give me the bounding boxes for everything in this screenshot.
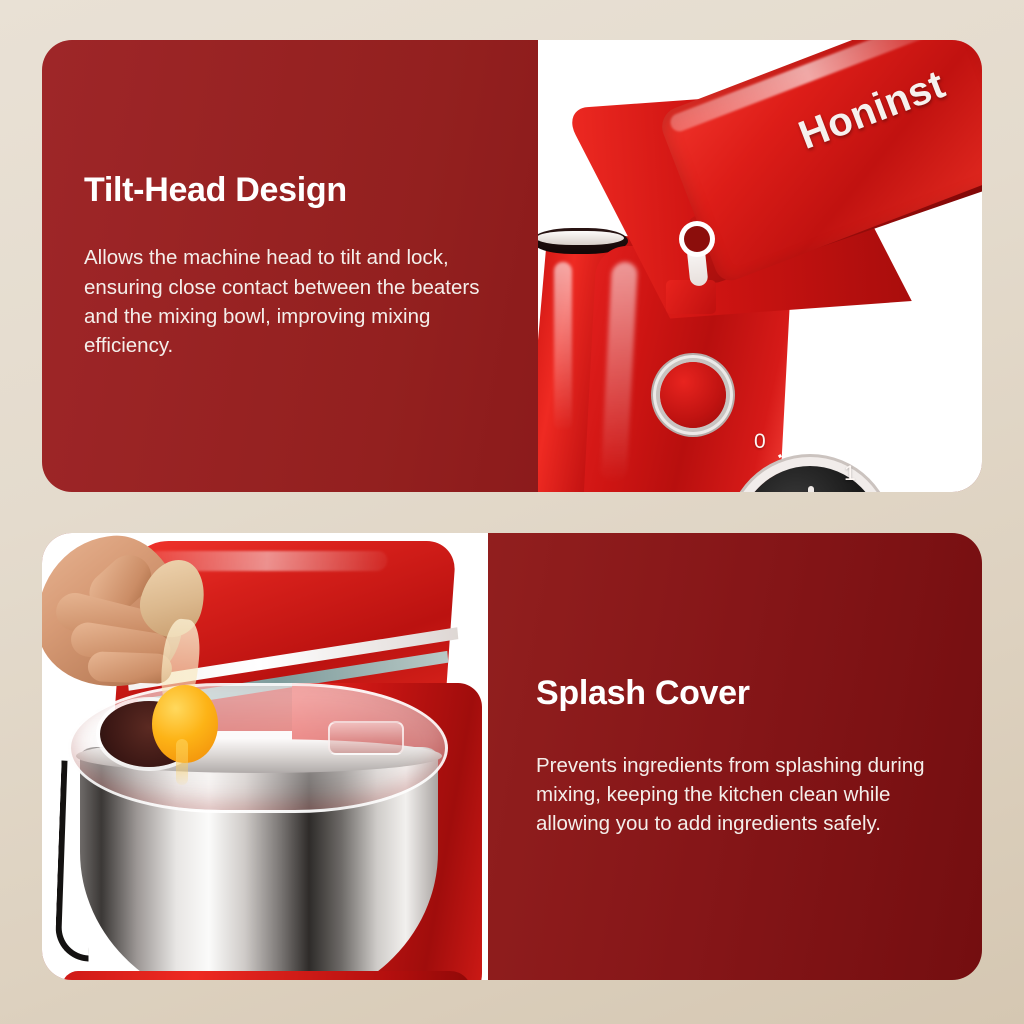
release-button[interactable] xyxy=(660,362,726,428)
bowl-handle xyxy=(55,760,96,961)
dial-label-1: 1 xyxy=(844,462,856,486)
bowl-gloss-highlight xyxy=(554,262,572,432)
tilt-head-photo: Honinst P 0 1 2 xyxy=(538,40,982,492)
egg-drip xyxy=(176,739,188,785)
hinge-block xyxy=(666,280,716,314)
speed-dial-pointer xyxy=(808,486,814,492)
feature-card-splash-cover: Splash Cover Prevents ingredients from s… xyxy=(42,533,982,980)
splash-cover-text-pane: Splash Cover Prevents ingredients from s… xyxy=(502,533,982,980)
tilt-head-title: Tilt-Head Design xyxy=(84,172,502,209)
tilt-head-text-pane: Tilt-Head Design Allows the machine head… xyxy=(42,40,542,492)
speed-dial-group[interactable]: P 0 1 2 xyxy=(716,440,916,492)
feature-board: Tilt-Head Design Allows the machine head… xyxy=(0,0,1024,1024)
mixer-base xyxy=(62,971,472,980)
splash-cover-tab xyxy=(328,721,404,755)
dial-label-0: 0 xyxy=(754,430,766,454)
splash-cover-description: Prevents ingredients from splashing duri… xyxy=(536,751,926,838)
hinge-socket-icon xyxy=(684,226,710,252)
splash-cover-title: Splash Cover xyxy=(536,675,926,712)
splash-cover-photo xyxy=(42,533,488,980)
tilt-head-description: Allows the machine head to tilt and lock… xyxy=(84,243,502,359)
finger-ring xyxy=(87,651,172,684)
feature-card-tilt-head: Tilt-Head Design Allows the machine head… xyxy=(42,40,982,492)
